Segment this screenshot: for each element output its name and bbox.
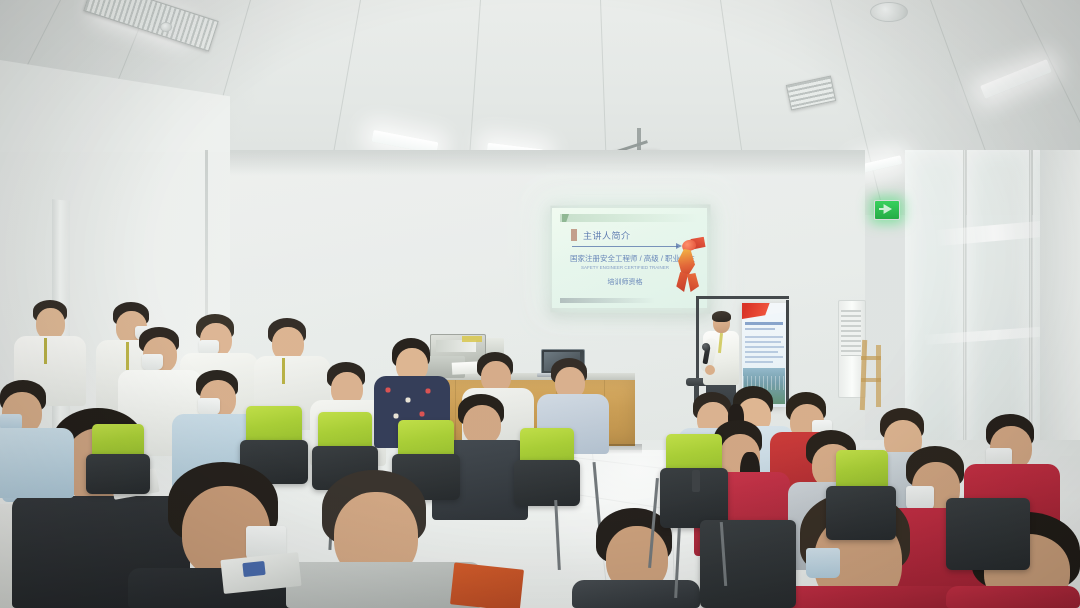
conference-chair-back[interactable] — [86, 454, 150, 494]
banner-body-text — [745, 346, 784, 348]
banner-headline-text — [745, 322, 783, 325]
av-equipment-label — [462, 336, 482, 342]
notebook[interactable] — [450, 562, 524, 608]
glass-mullion — [963, 150, 966, 480]
slide-body-line-2: SAFETY ENGINEER CERTIFIED TRAINER — [570, 265, 680, 270]
conference-chair-seatback[interactable] — [836, 450, 888, 490]
microphone-head-icon — [702, 343, 710, 351]
smoke-detector — [160, 22, 172, 32]
banner-stand-top-rail — [696, 296, 789, 299]
banner-body-text — [745, 336, 783, 338]
slide-title: 主讲人简介 — [583, 229, 673, 242]
banner-body-text — [745, 361, 773, 363]
banner-body-text — [745, 341, 781, 343]
banner-body-text — [745, 356, 783, 358]
presenter-hand — [705, 365, 715, 375]
chair-armrest — [692, 470, 700, 492]
slide-title-accent — [571, 229, 577, 241]
banner-body-text — [745, 351, 778, 353]
banner-subtitle-text — [745, 328, 775, 330]
slide-body-line-3: 培训师资格 — [570, 277, 680, 287]
desk-wood-grain — [455, 380, 456, 446]
wall-top-shadow — [205, 150, 865, 176]
conference-chair-back[interactable] — [514, 460, 580, 506]
conference-chair-back[interactable] — [826, 486, 896, 540]
banner-stand-pole — [786, 300, 789, 412]
conference-room-photo: 主讲人简介 国家注册安全工程师 / 高级 / 职业卫生 SAFETY ENGIN… — [0, 0, 1080, 608]
conference-chair-back[interactable] — [700, 520, 796, 608]
slide-body-line-1: 国家注册安全工程师 / 高级 / 职业卫生 — [570, 253, 680, 264]
presenter-hair — [712, 311, 731, 322]
air-conditioner-grille-icon — [841, 310, 861, 356]
coat-rack — [876, 345, 881, 407]
conference-chair-back[interactable] — [946, 498, 1030, 570]
slide-arrow-line — [572, 246, 678, 247]
notebook-label — [242, 561, 265, 577]
slide-header-bar — [560, 214, 698, 222]
coat-rack-arm — [861, 378, 881, 382]
door-frame — [1040, 150, 1080, 490]
slide-footer-bar — [560, 298, 655, 303]
smoke-detector — [870, 2, 908, 22]
coat-rack-arm — [861, 356, 881, 360]
